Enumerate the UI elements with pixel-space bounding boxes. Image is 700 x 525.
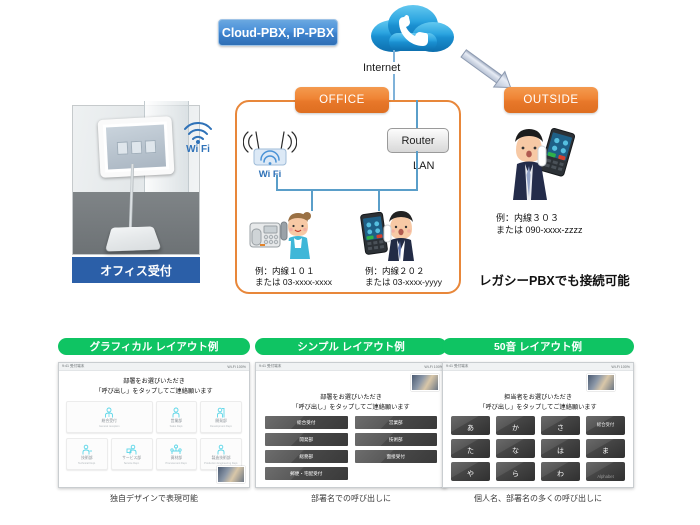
kiosk-tablet: [98, 116, 175, 178]
tablet-status-bar: 9:41 受付端末 Wi-Fi 100%: [256, 363, 446, 371]
dept-label-ja: 総合受付: [102, 419, 117, 424]
status-right: Wi-Fi 100%: [424, 365, 443, 369]
tablet-headline: 担当者をお選びいただき 「呼び出し」をタップしてご連絡願います: [443, 393, 633, 412]
internet-connector-line: [393, 50, 395, 100]
dept-tile-procurement[interactable]: 資材部 Procurement Dept.: [156, 438, 198, 470]
tablet-simple[interactable]: 9:41 受付端末 Wi-Fi 100% 部署をお選びいただき 「呼び出し」をタ…: [255, 362, 447, 488]
receptionist-figure: [248, 205, 314, 261]
kana-key-sa[interactable]: さ: [541, 416, 580, 435]
dept-tile-general-reception[interactable]: 総合受付 General reception: [66, 401, 153, 433]
wifi-label-top: Wi Fi: [186, 144, 210, 153]
video-thumbnail: [587, 374, 615, 391]
tablet-headline: 部署をお選びいただき 「呼び出し」をタップしてご連絡願います: [59, 377, 249, 396]
dept-button-empty: [355, 467, 438, 480]
kana-keypad: あ か さ 総合受付 た な は ま や ら わ Alphabet: [443, 412, 633, 481]
status-right: Wi-Fi 100%: [611, 365, 630, 369]
kana-key-general-reception[interactable]: 総合受付: [586, 416, 625, 435]
kiosk-stand-base: [105, 226, 162, 251]
video-thumbnail: [217, 466, 245, 483]
receptionist-extension-line2: または 03-xxxx-xxxx: [255, 277, 332, 288]
panel-simple-layout: シンプル レイアウト例 9:41 受付端末 Wi-Fi 100% 部署をお選びい…: [255, 338, 447, 504]
wifi-access-point-icon: Wi Fi: [243, 126, 297, 182]
panel-graphical-layout: グラフィカル レイアウト例 9:41 受付端末 Wi-Fi 100% 部署をお選…: [58, 338, 250, 504]
tablet-kana[interactable]: 9:41 受付端末 Wi-Fi 100% 担当者をお選びいただき 「呼び出し」を…: [442, 362, 634, 488]
dept-label-en: Sales Dept.: [170, 425, 183, 428]
status-left: 9:41 受付端末: [259, 364, 281, 369]
panel-kana-layout: 50音 レイアウト例 9:41 受付端末 Wi-Fi 100% 担当者をお選びい…: [442, 338, 634, 504]
kiosk-key: [130, 140, 142, 154]
dept-label-ja: 開発部: [215, 419, 226, 424]
kiosk-key: [116, 141, 128, 155]
dept-label-ja: 技術部: [81, 456, 92, 461]
kiosk-screen-content: [106, 125, 166, 170]
dept-label-ja: 製造技術部: [212, 456, 231, 461]
office-tag: OFFICE: [295, 87, 389, 113]
headline-line1: 部署をお選びいただき: [256, 393, 446, 403]
outside-extension-line1: 例：内線３０３: [496, 212, 559, 224]
department-grid-row2: 技術部 Technical Dept. サービス部 Service Dept.: [59, 433, 249, 470]
dept-button-sales[interactable]: 営業部: [355, 416, 438, 429]
person-procurement-icon: [170, 443, 182, 455]
kana-key-ha[interactable]: は: [541, 439, 580, 458]
kana-key-alphabet[interactable]: Alphabet: [586, 462, 625, 481]
tablet-status-bar: 9:41 受付端末 Wi-Fi 100%: [59, 363, 249, 371]
kana-key-ma[interactable]: ま: [586, 439, 625, 458]
wifi-signal-icon: Wi Fi: [177, 113, 219, 153]
dept-label-en: Procurement Dept.: [165, 462, 187, 465]
video-thumbnail: [411, 374, 439, 391]
kana-key-ra[interactable]: ら: [496, 462, 535, 481]
office-mobile-extension-line1: 例：内線２０２: [365, 266, 425, 277]
slide-root: Cloud-PBX, IP-PBX Internet: [0, 0, 700, 525]
dept-label-en: General reception: [99, 425, 120, 428]
headline-line2: 「呼び出し」をタップしてご連絡願います: [59, 387, 249, 397]
dept-button-interview-reception[interactable]: 面接受付: [355, 450, 438, 463]
status-right: Wi-Fi 100%: [227, 365, 246, 369]
dept-label-en: Service Dept.: [124, 462, 140, 465]
department-grid-row1: 総合受付 General reception 営業部 Sales Dept.: [59, 396, 249, 433]
status-left: 9:41 受付端末: [62, 364, 84, 369]
dept-tile-sales[interactable]: 営業部 Sales Dept.: [156, 401, 198, 433]
layout-examples-row: グラフィカル レイアウト例 9:41 受付端末 Wi-Fi 100% 部署をお選…: [0, 338, 700, 525]
headline-line2: 「呼び出し」をタップしてご連絡願います: [256, 403, 446, 413]
kana-key-na[interactable]: な: [496, 439, 535, 458]
tablet-headline: 部署をお選びいただき 「呼び出し」をタップしてご連絡願います: [256, 393, 446, 412]
lan-line: [416, 151, 418, 191]
headline-line1: 担当者をお選びいただき: [443, 393, 633, 403]
dept-button-general-affairs[interactable]: 総務部: [265, 450, 348, 463]
headline-line1: 部署をお選びいただき: [59, 377, 249, 387]
dept-label-ja: 営業部: [171, 419, 182, 424]
dept-label-en: Production Engineering Dept.: [204, 462, 238, 465]
dept-button-general-reception[interactable]: 総合受付: [265, 416, 348, 429]
person-sales-icon: [170, 406, 182, 418]
dept-button-mail-delivery[interactable]: 郵便・宅配受付: [265, 467, 348, 480]
kana-key-ka[interactable]: か: [496, 416, 535, 435]
status-left: 9:41 受付端末: [446, 364, 468, 369]
kiosk-key: [144, 139, 156, 153]
person-service-icon: [126, 443, 138, 455]
dept-tile-development[interactable]: 開発部 Development Dept.: [200, 401, 242, 433]
dept-button-technical[interactable]: 技術部: [355, 433, 438, 446]
router-box: Router: [387, 128, 449, 153]
cloud-pbx-badge: Cloud-PBX, IP-PBX: [218, 19, 338, 46]
wifi-label-office: Wi Fi: [259, 169, 282, 180]
person-technical-icon: [81, 443, 93, 455]
person-reception-icon: [103, 406, 115, 418]
dept-tile-service[interactable]: サービス部 Service Dept.: [111, 438, 153, 470]
dept-label-en: Development Dept.: [210, 425, 232, 428]
kana-key-ta[interactable]: た: [451, 439, 490, 458]
tablet-status-bar: 9:41 受付端末 Wi-Fi 100%: [443, 363, 633, 371]
panel-simple-title: シンプル レイアウト例: [255, 338, 447, 355]
tablet-graphical[interactable]: 9:41 受付端末 Wi-Fi 100% 部署をお選びいただき 「呼び出し」をタ…: [58, 362, 250, 488]
department-button-grid: 総合受付 営業部 開発部 技術部 総務部 面接受付 郵便・宅配受付: [256, 412, 446, 480]
panel-kana-caption: 個人名、部署名の多くの呼び出しに: [442, 493, 634, 504]
office-mobile-extension-line2: または 03-xxxx-yyyy: [365, 277, 442, 288]
panel-simple-caption: 部署名での呼び出しに: [255, 493, 447, 504]
dept-label-ja: 資材部: [171, 456, 182, 461]
panel-graphical-title: グラフィカル レイアウト例: [58, 338, 250, 355]
outside-smartphone-figure: [500, 122, 578, 202]
office-smartphone-figure: [360, 205, 422, 261]
dept-tile-technical[interactable]: 技術部 Technical Dept.: [66, 438, 108, 470]
router-uplink-line: [416, 100, 418, 128]
lan-bus-line: [276, 189, 418, 191]
legacy-pbx-note: レガシーPBXでも接続可能: [479, 270, 630, 289]
panel-graphical-caption: 独自デザインで表現可能: [58, 493, 250, 504]
person-development-icon: [215, 406, 227, 418]
dept-button-development[interactable]: 開発部: [265, 433, 348, 446]
cloud-phone-icon: [363, 3, 459, 61]
receptionist-extension-line1: 例：内線１０１: [255, 266, 315, 277]
internet-label: Internet: [360, 62, 403, 74]
outside-tag: OUTSIDE: [504, 87, 598, 113]
outside-extension-line2: または 090-xxxx-zzzz: [496, 224, 583, 236]
panel-kana-title: 50音 レイアウト例: [442, 338, 634, 355]
dept-label-ja: サービス部: [122, 456, 141, 461]
kana-key-a[interactable]: あ: [451, 416, 490, 435]
photo-caption: オフィス受付: [72, 257, 200, 283]
headline-line2: 「呼び出し」をタップしてご連絡願います: [443, 403, 633, 413]
person-production-icon: [215, 443, 227, 455]
dept-label-en: Technical Dept.: [78, 462, 96, 465]
kana-key-ya[interactable]: や: [451, 462, 490, 481]
kana-key-wa[interactable]: わ: [541, 462, 580, 481]
